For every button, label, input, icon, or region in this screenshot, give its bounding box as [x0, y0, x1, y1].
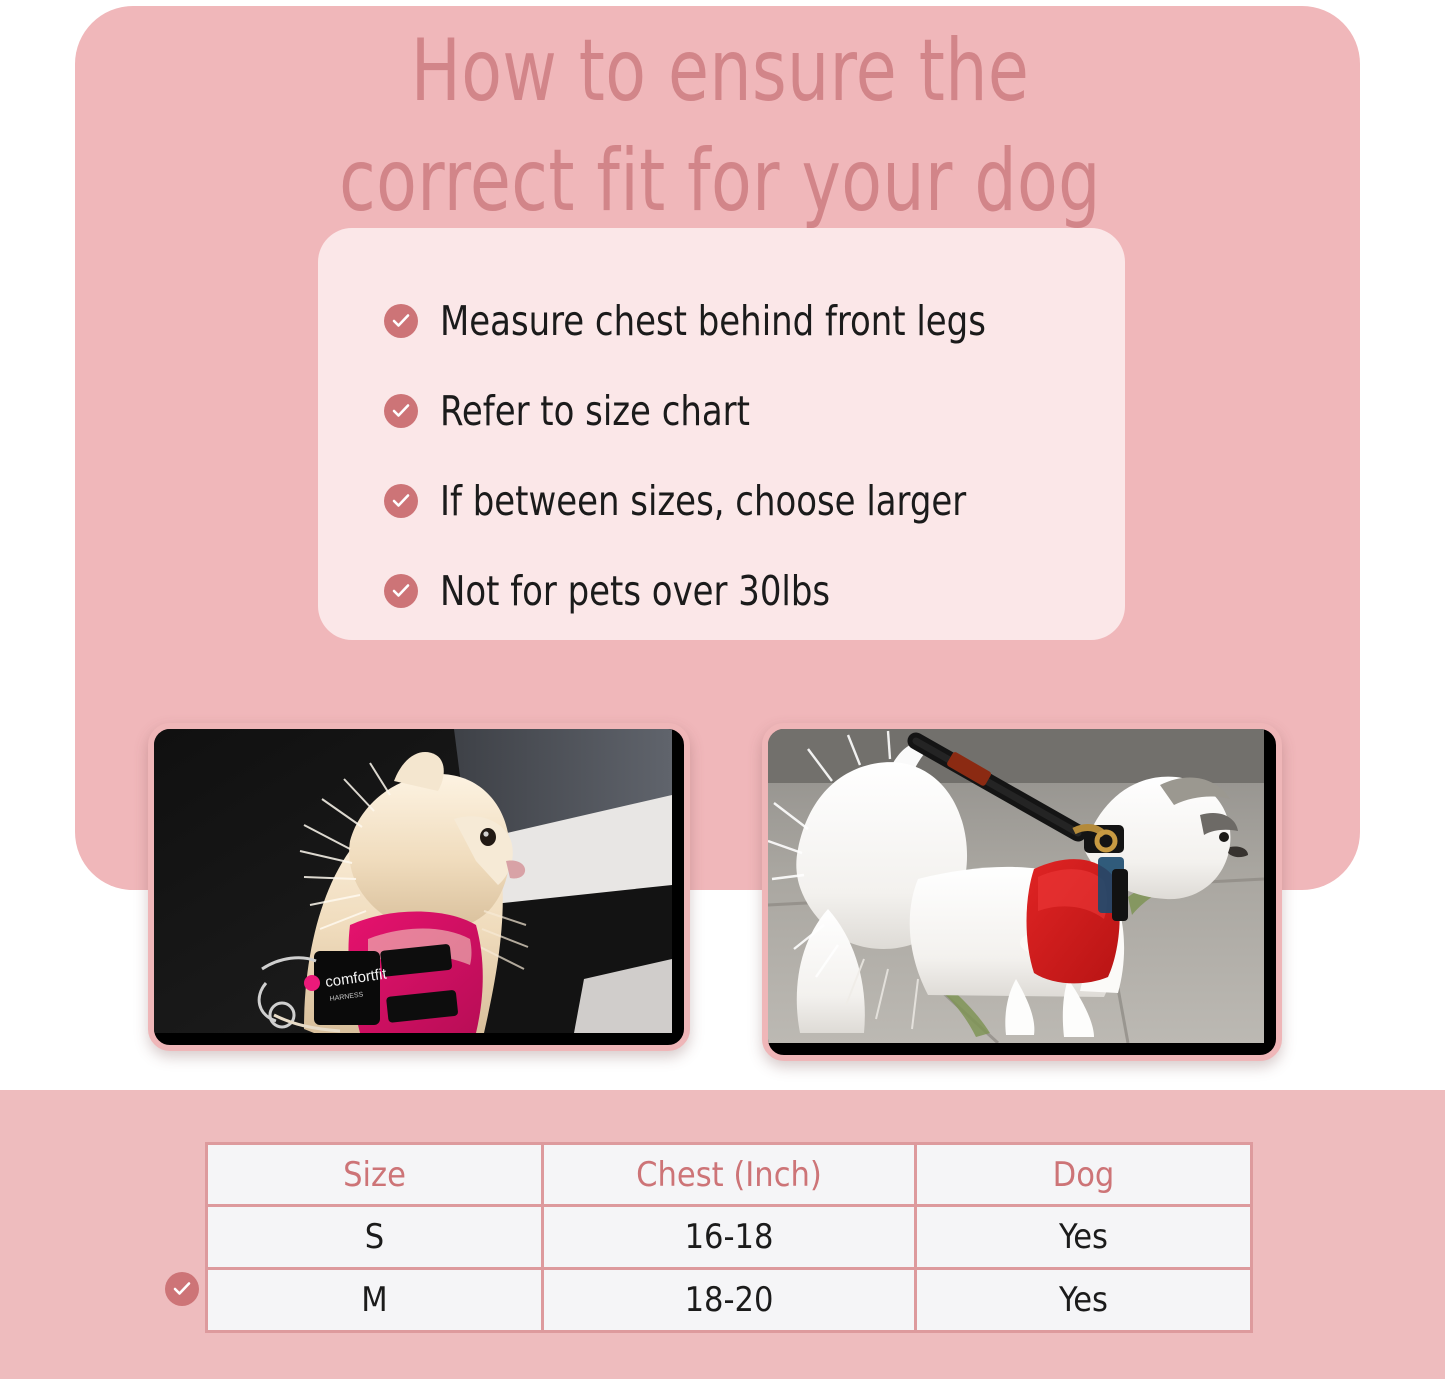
tip-label: Not for pets over 30lbs [440, 568, 830, 614]
cell-size: S [207, 1206, 543, 1269]
page-title: How to ensure the correct fit for your d… [264, 16, 1176, 236]
column-header-chest: Chest (Inch) [543, 1144, 916, 1206]
tips-list: Measure chest behind front legs Refer to… [384, 276, 1101, 636]
size-chart-table: Size Chest (Inch) Dog S 16-18 Yes M 18-2… [205, 1142, 1253, 1333]
table-header-row: Size Chest (Inch) Dog [207, 1144, 1252, 1206]
column-header-dog: Dog [916, 1144, 1252, 1206]
check-circle-icon [384, 574, 418, 608]
product-photo-pomeranian: comfortfit HARNESS [148, 723, 690, 1051]
cell-dog: Yes [916, 1206, 1252, 1269]
cell-size: M [207, 1269, 543, 1332]
list-item: If between sizes, choose larger [384, 456, 1101, 546]
check-circle-icon [384, 304, 418, 338]
cell-chest: 18-20 [543, 1269, 916, 1332]
product-photo-white-dog [762, 723, 1282, 1061]
check-circle-icon [384, 484, 418, 518]
cell-dog: Yes [916, 1269, 1252, 1332]
tips-card: Measure chest behind front legs Refer to… [318, 228, 1125, 640]
table-row[interactable]: S 16-18 Yes [207, 1206, 1252, 1269]
selected-row-check-icon [165, 1272, 199, 1306]
list-item: Not for pets over 30lbs [384, 546, 1101, 636]
tip-label: If between sizes, choose larger [440, 478, 966, 524]
table-row[interactable]: M 18-20 Yes [207, 1269, 1252, 1332]
column-header-size: Size [207, 1144, 543, 1206]
list-item: Measure chest behind front legs [384, 276, 1101, 366]
tip-label: Refer to size chart [440, 388, 750, 434]
tip-label: Measure chest behind front legs [440, 298, 986, 344]
cell-chest: 16-18 [543, 1206, 916, 1269]
check-circle-icon [384, 394, 418, 428]
list-item: Refer to size chart [384, 366, 1101, 456]
